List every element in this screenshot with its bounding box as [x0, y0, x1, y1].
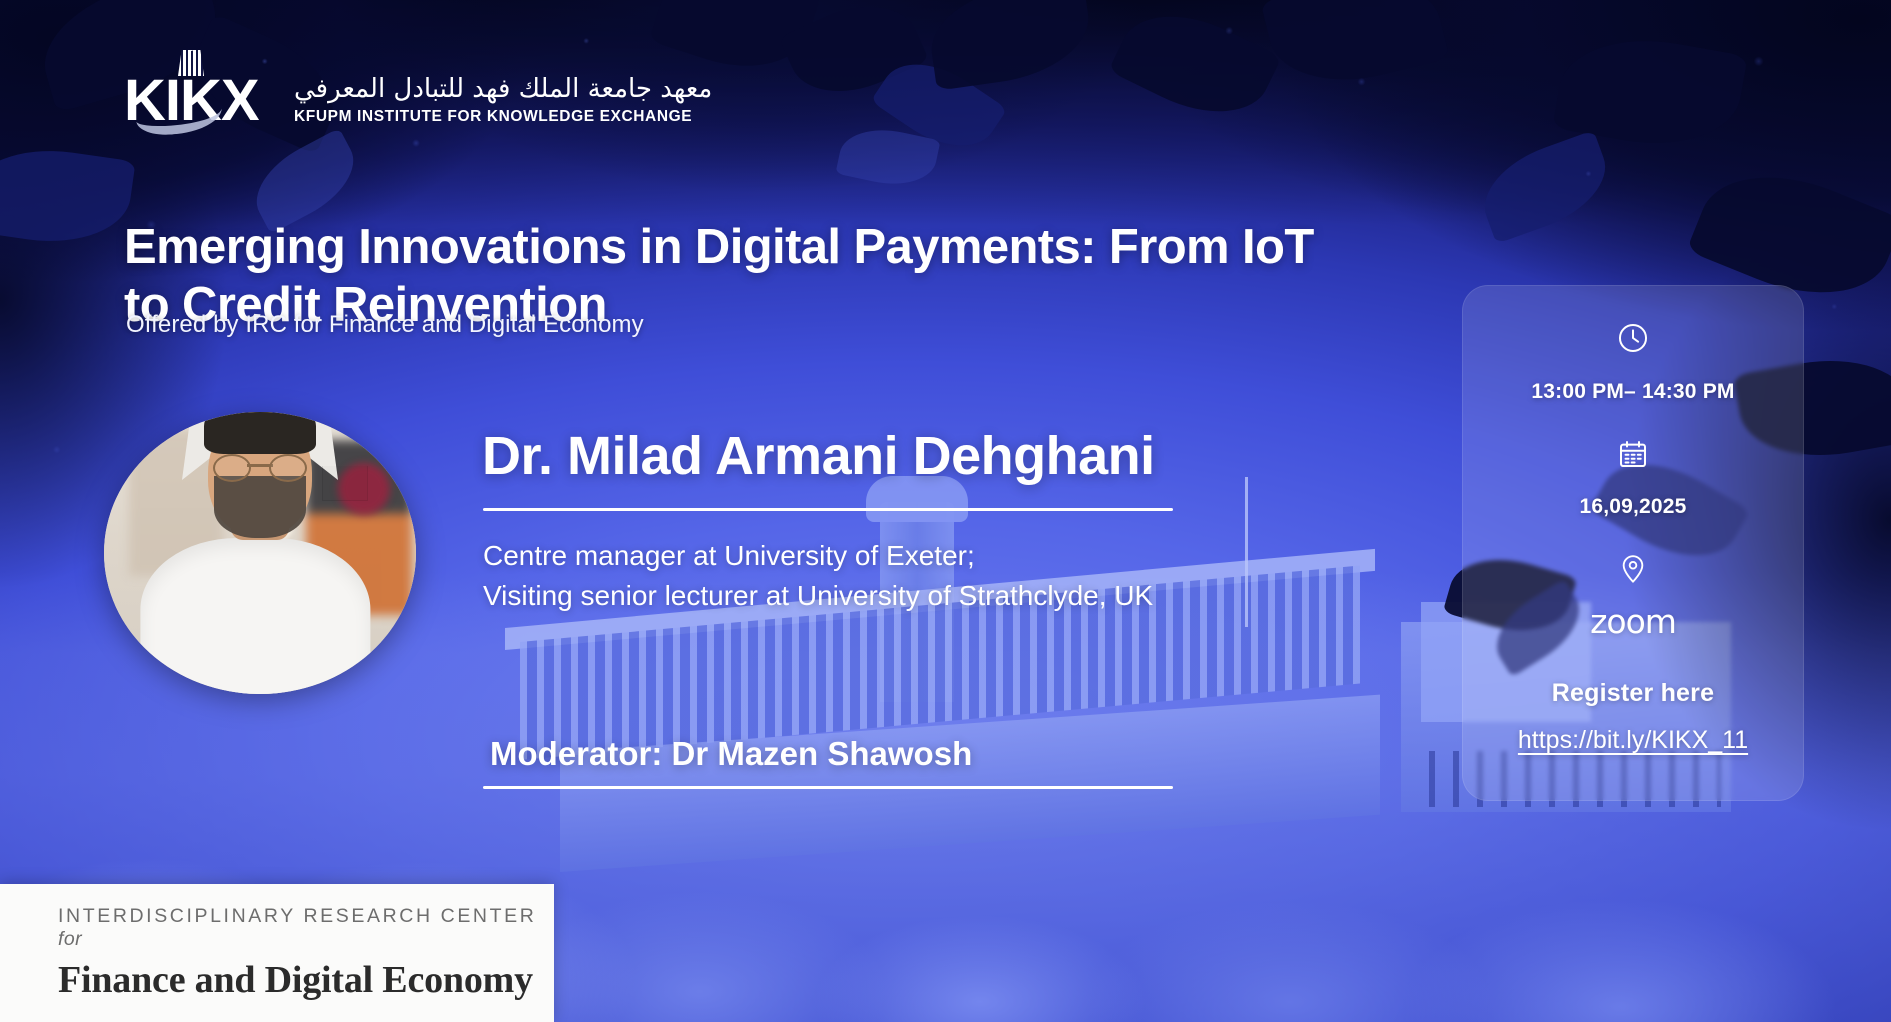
event-poster: KIKX معهد جامعة الملك فهد للتبادل المعرف… [0, 0, 1891, 1022]
kikx-logo: KIKX معهد جامعة الملك فهد للتبادل المعرف… [124, 72, 712, 130]
event-date: 16,09,2025 [1579, 495, 1686, 519]
speaker-affiliation: Centre manager at University of Exeter; … [483, 536, 1363, 616]
irc-badge-for-text: for [58, 928, 82, 950]
registration-link[interactable]: https://bit.ly/KIKX_11 [1518, 726, 1748, 755]
speaker-name: Dr. Milad Armani Dehghani [482, 425, 1155, 487]
platform-zoom-label: zoom [1590, 602, 1676, 641]
irc-badge-name: Finance and Digital Economy [58, 958, 554, 1002]
kikx-logomark-icon: KIKX [124, 72, 272, 130]
moderator-label: Moderator: Dr Mazen Shawosh [490, 735, 972, 773]
event-time: 13:00 PM– 14:30 PM [1531, 380, 1734, 404]
kikx-english-name: KFUPM INSTITUTE FOR KNOWLEDGE EXCHANGE [294, 108, 712, 126]
moderator-divider [483, 786, 1173, 789]
irc-badge: INTERDISCIPLINARY RESEARCH CENTER for Fi… [0, 884, 554, 1022]
tower-icon [178, 50, 204, 76]
calendar-icon [1617, 438, 1649, 475]
speaker-affiliation-line1: Centre manager at University of Exeter; [483, 536, 1363, 576]
speaker-affiliation-line2: Visiting senior lecturer at University o… [483, 576, 1363, 616]
event-details-card: 13:00 PM– 14:30 PM 16,09,2025 zoom Regis… [1462, 285, 1804, 801]
speaker-portrait [104, 412, 416, 694]
irc-badge-center-text: INTERDISCIPLINARY RESEARCH CENTER [58, 905, 536, 927]
register-here-label: Register here [1552, 679, 1714, 708]
speaker-divider [483, 508, 1173, 511]
offered-by-label: Offered by IRC for Finance and Digital E… [126, 311, 644, 339]
eyeglasses-icon [213, 454, 307, 478]
location-pin-icon [1617, 553, 1649, 590]
irc-badge-top-line: INTERDISCIPLINARY RESEARCH CENTER for [58, 905, 554, 951]
clock-icon [1616, 321, 1650, 360]
kikx-arabic-name: معهد جامعة الملك فهد للتبادل المعرفي [294, 75, 712, 105]
